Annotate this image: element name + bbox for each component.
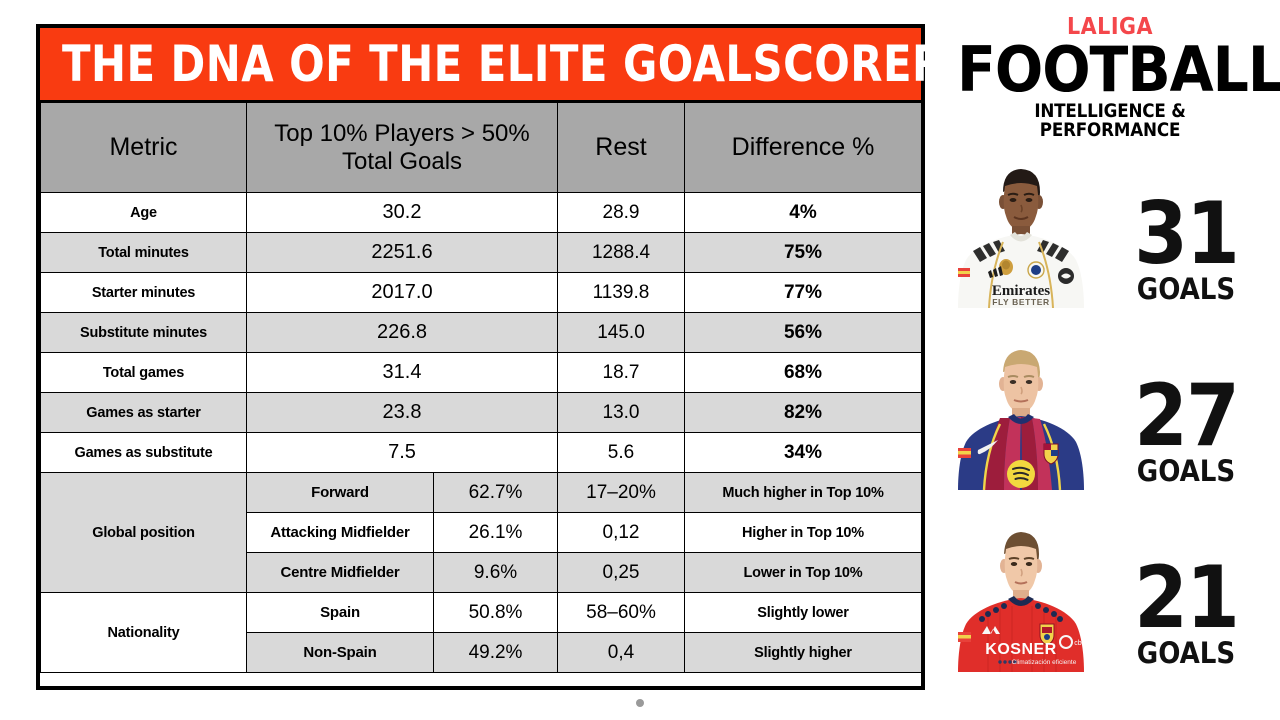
cell-top10: 50.8% xyxy=(434,593,558,633)
table-row: Total minutes 2251.6 1288.4 75% xyxy=(41,233,922,273)
player-goal-stat: 27 GOALS xyxy=(1094,378,1278,490)
cell-top10: 2017.0 xyxy=(247,273,558,313)
cell-top10: 26.1% xyxy=(434,513,558,553)
cell-difference: Slightly lower xyxy=(685,593,922,633)
col-header-top10: Top 10% Players > 50% Total Goals xyxy=(247,103,558,193)
col-header-metric: Metric xyxy=(41,103,247,193)
title-bar: THE DNA OF THE ELITE GOALSCORER xyxy=(40,28,921,102)
cell-rest: 0,4 xyxy=(558,633,685,673)
table-row: Total games 31.4 18.7 68% xyxy=(41,353,922,393)
player-photo-barcelona xyxy=(948,332,1094,490)
col-header-rest: Rest xyxy=(558,103,685,193)
cell-top10: 226.8 xyxy=(247,313,558,353)
cell-difference: Much higher in Top 10% xyxy=(685,473,922,513)
dna-table-panel: THE DNA OF THE ELITE GOALSCORER Metric T… xyxy=(36,24,925,690)
cell-top10: 23.8 xyxy=(247,393,558,433)
cell-sub-label: Non-Spain xyxy=(247,633,434,673)
cell-rest: 1139.8 xyxy=(558,273,685,313)
cell-top10: 62.7% xyxy=(434,473,558,513)
cell-metric: Substitute minutes xyxy=(41,313,247,353)
player-card: KOSNER Climatización eficiente cb 21 GOA… xyxy=(948,512,1278,672)
cell-top10: 2251.6 xyxy=(247,233,558,273)
page-title: THE DNA OF THE ELITE GOALSCORER xyxy=(62,39,945,89)
cell-rest: 17–20% xyxy=(558,473,685,513)
cell-rest: 58–60% xyxy=(558,593,685,633)
cell-difference: 77% xyxy=(685,273,922,313)
cell-difference: 68% xyxy=(685,353,922,393)
cell-metric: Age xyxy=(41,193,247,233)
cell-metric: Total minutes xyxy=(41,233,247,273)
cell-top10: 30.2 xyxy=(247,193,558,233)
cell-difference: Lower in Top 10% xyxy=(685,553,922,593)
cell-rest: 145.0 xyxy=(558,313,685,353)
cell-rest: 1288.4 xyxy=(558,233,685,273)
cell-sub-label: Centre Midfielder xyxy=(247,553,434,593)
cell-rest: 18.7 xyxy=(558,353,685,393)
infographic-page: THE DNA OF THE ELITE GOALSCORER Metric T… xyxy=(0,0,1280,720)
cell-difference: 4% xyxy=(685,193,922,233)
brand-tagline: INTELLIGENCE & PERFORMANCE xyxy=(963,102,1257,140)
table-row: Starter minutes 2017.0 1139.8 77% xyxy=(41,273,922,313)
cell-rest: 5.6 xyxy=(558,433,685,473)
cell-rest: 0,12 xyxy=(558,513,685,553)
col-header-difference: Difference % xyxy=(685,103,922,193)
table-header: Metric Top 10% Players > 50% Total Goals… xyxy=(41,103,922,193)
cell-metric: Games as starter xyxy=(41,393,247,433)
cell-top10: 7.5 xyxy=(247,433,558,473)
cell-sub-label: Forward xyxy=(247,473,434,513)
svg-text:FLY BETTER: FLY BETTER xyxy=(992,297,1049,307)
cell-group-label: Global position xyxy=(41,473,247,593)
cell-difference: 56% xyxy=(685,313,922,353)
cell-top10: 31.4 xyxy=(247,353,558,393)
cell-metric: Starter minutes xyxy=(41,273,247,313)
cell-rest: 13.0 xyxy=(558,393,685,433)
sidebar: LALIGA FOOTBALL INTELLIGENCE & PERFORMAN… xyxy=(940,0,1280,720)
svg-text:cb: cb xyxy=(1074,640,1082,647)
cell-top10: 9.6% xyxy=(434,553,558,593)
table-body: Age 30.2 28.9 4% Total minutes 2251.6 12… xyxy=(41,193,922,673)
player-goals-label: GOALS xyxy=(1094,639,1278,668)
cell-metric: Total games xyxy=(41,353,247,393)
table-row: Age 30.2 28.9 4% xyxy=(41,193,922,233)
footer-dot xyxy=(636,699,644,707)
cell-difference: Higher in Top 10% xyxy=(685,513,922,553)
player-goal-stat: 31 GOALS xyxy=(1094,196,1278,308)
player-goals-label: GOALS xyxy=(1094,275,1278,304)
table-row: Games as starter 23.8 13.0 82% xyxy=(41,393,922,433)
cell-top10: 49.2% xyxy=(434,633,558,673)
player-goal-stat: 21 GOALS xyxy=(1094,560,1278,672)
player-goals-count: 21 xyxy=(1094,560,1278,637)
table-row: Global position Forward 62.7% 17–20% Muc… xyxy=(41,473,922,513)
cell-metric: Games as substitute xyxy=(41,433,247,473)
cell-rest: 28.9 xyxy=(558,193,685,233)
cell-difference: 75% xyxy=(685,233,922,273)
player-goals-count: 31 xyxy=(1094,196,1278,273)
cell-sub-label: Spain xyxy=(247,593,434,633)
player-photo-real-madrid: Emirates FLY BETTER xyxy=(948,150,1094,308)
table-header-row: Metric Top 10% Players > 50% Total Goals… xyxy=(41,103,922,193)
player-photo-osasuna: KOSNER Climatización eficiente cb xyxy=(948,514,1094,672)
player-card: Emirates FLY BETTER 31 GOALS xyxy=(948,148,1278,308)
player-goals-count: 27 xyxy=(1094,378,1278,455)
cell-rest: 0,25 xyxy=(558,553,685,593)
player-card: 27 GOALS xyxy=(948,330,1278,490)
table-row: Substitute minutes 226.8 145.0 56% xyxy=(41,313,922,353)
table-row: Games as substitute 7.5 5.6 34% xyxy=(41,433,922,473)
svg-text:Climatización eficiente: Climatización eficiente xyxy=(1012,659,1077,666)
brand-football-label: FOOTBALL xyxy=(957,40,1263,100)
cell-difference: Slightly higher xyxy=(685,633,922,673)
cell-sub-label: Attacking Midfielder xyxy=(247,513,434,553)
cell-difference: 82% xyxy=(685,393,922,433)
svg-text:KOSNER: KOSNER xyxy=(985,641,1056,658)
table-row: Nationality Spain 50.8% 58–60% Slightly … xyxy=(41,593,922,633)
player-goals-label: GOALS xyxy=(1094,457,1278,486)
brand-lockup: LALIGA FOOTBALL INTELLIGENCE & PERFORMAN… xyxy=(960,16,1260,140)
cell-difference: 34% xyxy=(685,433,922,473)
dna-table: Metric Top 10% Players > 50% Total Goals… xyxy=(40,102,922,673)
cell-group-label: Nationality xyxy=(41,593,247,673)
